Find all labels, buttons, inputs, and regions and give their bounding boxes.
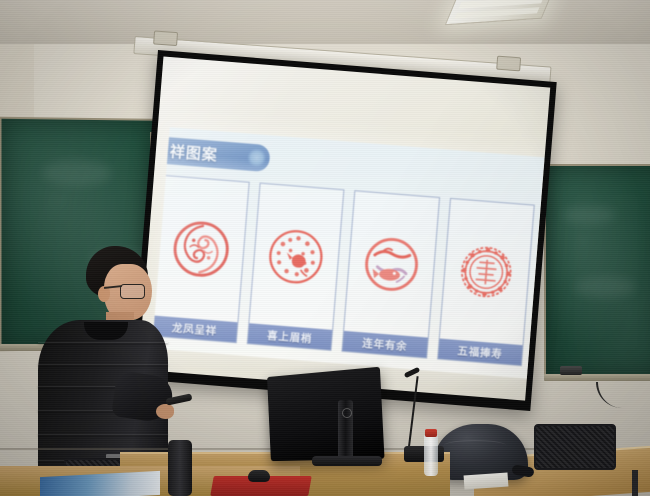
chalk-smudge — [562, 206, 616, 224]
eyeglasses-lens — [120, 284, 145, 299]
papercut-art — [344, 191, 438, 337]
classroom-photo-scene: 祥图案 — [0, 0, 650, 496]
papercut-card: 五福捧寿 — [437, 198, 535, 366]
magpie-plum-papercut-icon — [265, 226, 327, 288]
jacket-quilt-seam — [38, 364, 168, 365]
papercut-card: 连年有余 — [341, 190, 439, 358]
chalk-smudge — [42, 160, 112, 187]
slide-title: 祥图案 — [152, 139, 219, 165]
backpack-seam — [444, 440, 506, 451]
five-bats-longevity-papercut-icon — [455, 241, 517, 303]
dragon-phoenix-papercut-icon — [170, 218, 232, 280]
lotus-fish-papercut-icon — [360, 233, 422, 295]
water-bottle-cap — [425, 429, 437, 437]
jacket-quilt-seam — [38, 434, 168, 435]
projection-screen-surface: 祥图案 — [138, 56, 550, 400]
mesh-back-chair — [534, 424, 616, 470]
desk-speaker — [168, 440, 192, 496]
projected-slide: 祥图案 — [152, 127, 545, 378]
monitor-logo-icon — [342, 408, 352, 418]
chalk-tray-right — [544, 374, 650, 381]
badge-ornament-icon — [247, 148, 266, 168]
papercut-art — [249, 184, 343, 330]
presenter-hand — [156, 404, 174, 419]
papercut-card-row: 龙凤呈祥 — [152, 175, 535, 366]
light-tube-lower — [454, 7, 539, 19]
screen-mount-bracket — [496, 56, 521, 72]
monitor-base — [312, 456, 382, 466]
desktop-monitor-rear — [267, 367, 384, 461]
blackboard-eraser — [560, 366, 582, 375]
computer-mouse — [248, 470, 270, 482]
jacket-quilt-seam — [38, 342, 168, 343]
slide-content: 祥图案 — [152, 127, 545, 378]
papercut-art — [439, 199, 533, 345]
slide-title-badge: 祥图案 — [152, 136, 271, 172]
water-bottle — [424, 434, 438, 476]
papercut-card: 喜上眉梢 — [246, 183, 344, 351]
chalk-smudge — [574, 276, 636, 298]
projection-screen-frame: 祥图案 — [132, 50, 557, 411]
screen-mount-bracket — [153, 30, 178, 46]
chalkboard-right — [544, 164, 650, 380]
table-leg — [632, 470, 638, 496]
